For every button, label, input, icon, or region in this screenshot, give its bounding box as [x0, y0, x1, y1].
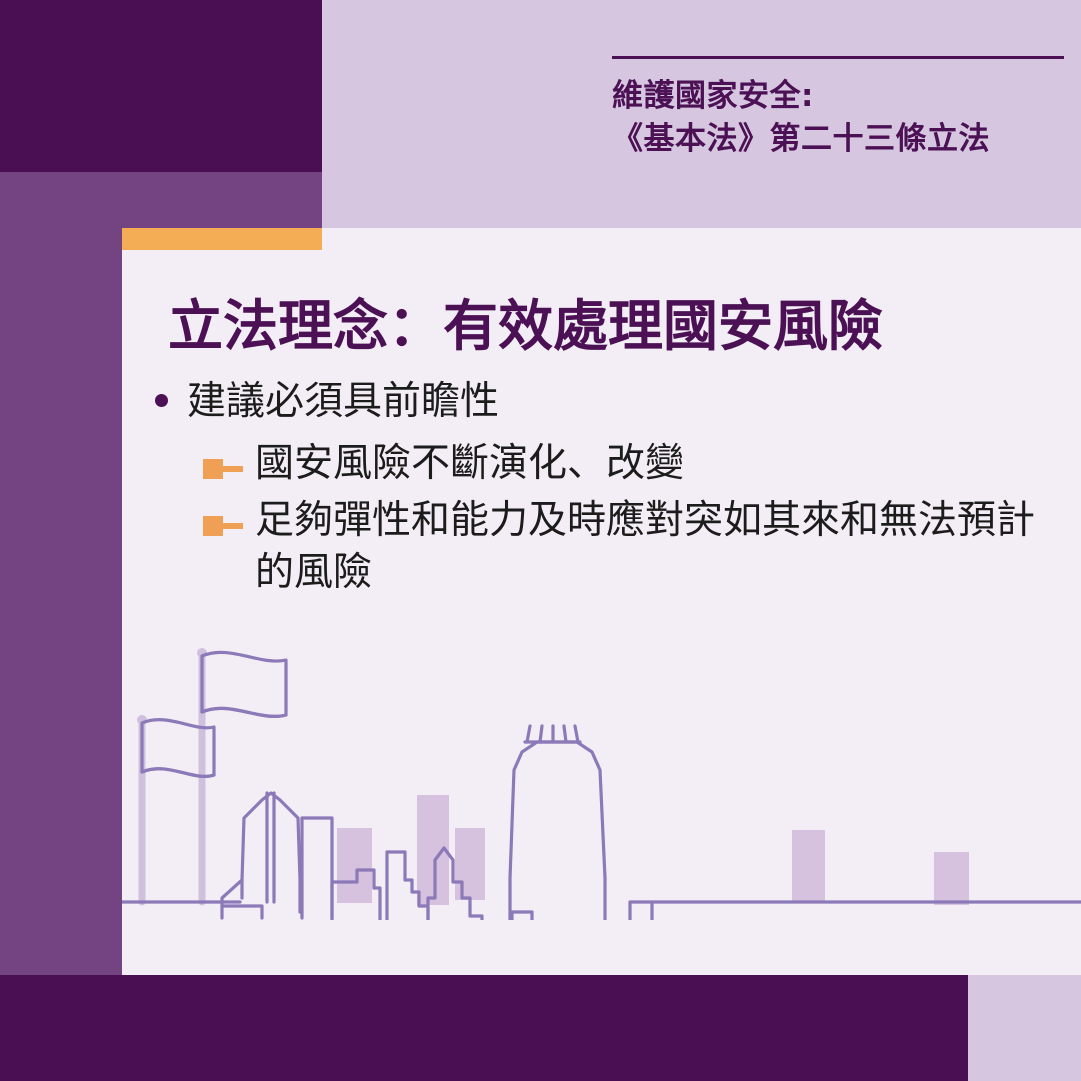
list-item: 國安風險不斷演化、改變: [203, 438, 1055, 489]
list-item: 足夠彈性和能力及時應對突如其來和無法預計的風險: [203, 495, 1055, 598]
bank-of-china-tower: [222, 793, 300, 918]
background-block-top-left-dark: [0, 0, 322, 172]
bullet-text: 足夠彈性和能力及時應對突如其來和無法預計的風險: [255, 495, 1055, 598]
background-block-bottom-dark: [0, 975, 968, 1081]
bullet-text: 建議必須具前瞻性: [187, 378, 499, 426]
building-fill-blocks: [337, 795, 969, 905]
header-rule: [612, 56, 1064, 59]
right-building: [630, 902, 652, 920]
bullet-dot-icon: [155, 394, 168, 407]
header: 維護國家安全: 《基本法》第二十三條立法: [612, 56, 1081, 161]
bullet-text: 國安風險不斷演化、改變: [255, 438, 684, 489]
slide-root: 維護國家安全: 《基本法》第二十三條立法 立法理念：有效處理國安風險 建議必須具…: [0, 0, 1081, 1081]
bullet-list: 建議必須具前瞻性 國安風險不斷演化、改變 足夠彈性和能力及時應對突如其來和無法預…: [155, 378, 1055, 604]
accent-bar-orange: [122, 228, 322, 250]
list-item: 建議必須具前瞻性: [155, 378, 1055, 426]
mid-tower-left: [302, 818, 332, 918]
header-line-2: 《基本法》第二十三條立法: [612, 118, 1081, 161]
skyline-illustration: [122, 630, 1081, 920]
ifc-tower: [510, 726, 605, 920]
header-line-1: 維護國家安全:: [612, 75, 1081, 118]
page-title: 立法理念：有效處理國安風險: [168, 296, 883, 357]
arrow-marker-icon: [203, 459, 241, 481]
background-strip-lavender: [322, 172, 1081, 222]
arrow-marker-icon: [203, 516, 241, 538]
